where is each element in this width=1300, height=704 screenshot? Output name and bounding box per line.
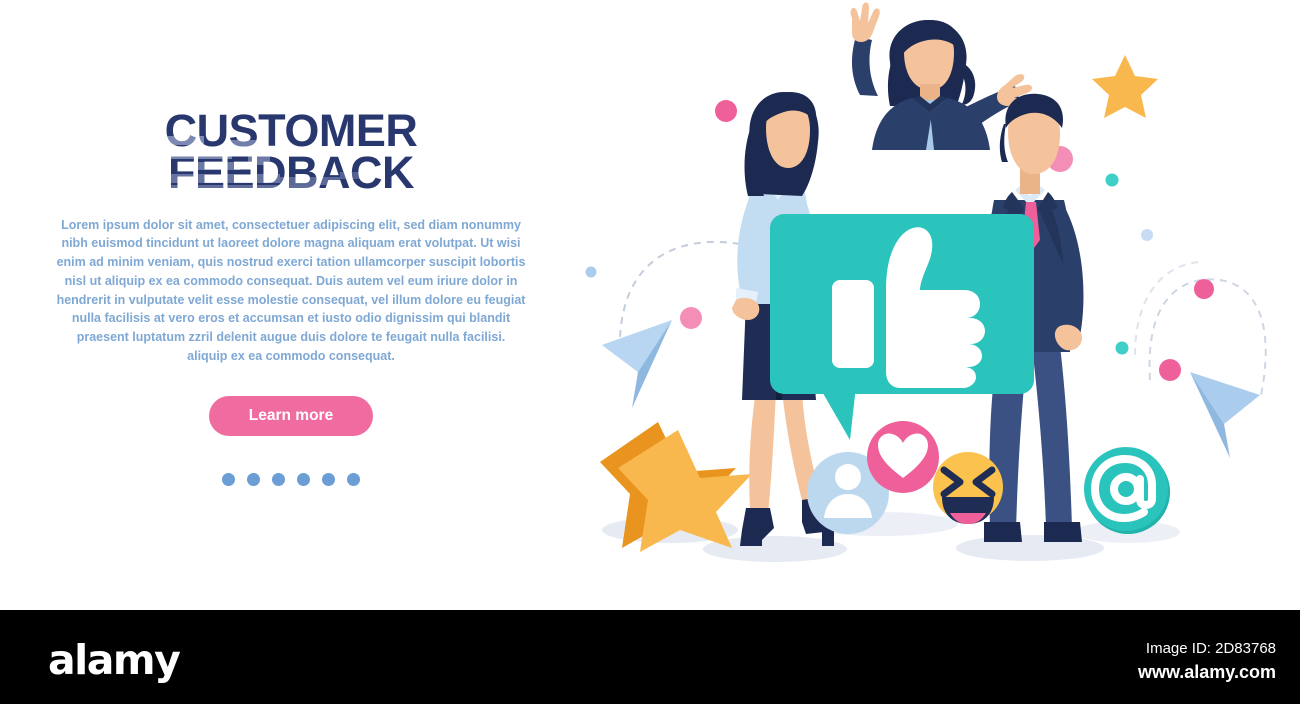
ground-shadow-man [956,535,1104,561]
cta-container: Learn more [56,396,526,436]
confetti-dot-teal-3 [1116,342,1129,355]
carousel-dot-3[interactable] [272,473,285,486]
carousel-dot-4[interactable] [297,473,310,486]
reaction-icon-heart [867,421,939,493]
dashed-trail-right-2 [1135,262,1200,355]
confetti-dot-pink-3 [1159,359,1181,381]
carousel-dot-6[interactable] [347,473,360,486]
confetti-dot-blue-2 [1141,229,1153,241]
footer-meta: Image ID: 2D83768 www.alamy.com [1138,638,1276,685]
hero-body-copy: Lorem ipsum dolor sit amet, consectetuer… [56,216,526,366]
reaction-icon-at-sign [1084,447,1170,534]
paper-plane-left [602,320,672,408]
image-id-label: Image ID: 2D83768 [1138,638,1276,660]
page-title-line-2: FEEDBACK [56,152,526,194]
paper-plane-right [1190,372,1260,458]
customer-feedback-illustration [560,0,1300,610]
hero-text-column: CUSTOMER FEEDBACK Lorem ipsum dolor sit … [56,110,526,486]
hero-body-paragraph: Lorem ipsum dolor sit amet, consectetuer… [56,216,526,347]
confetti-dot-blue-1 [586,267,597,278]
website-label: www.alamy.com [1138,660,1276,685]
page-title: CUSTOMER FEEDBACK [56,110,526,194]
confetti-dot-pink-2 [1194,279,1214,299]
carousel-dot-2[interactable] [247,473,260,486]
confetti-dot-teal-2 [1106,174,1119,187]
alamy-logo: alamy [48,636,179,684]
hero-body-tail: aliquip ex ea commodo consequat. [56,347,526,366]
star-small-right [1092,55,1158,118]
stock-photo-canvas: CUSTOMER FEEDBACK Lorem ipsum dolor sit … [0,0,1300,704]
learn-more-button[interactable]: Learn more [209,396,373,436]
carousel-dots[interactable] [56,473,526,486]
carousel-dot-1[interactable] [222,473,235,486]
watermark-footer-bar: alamy Image ID: 2D83768 www.alamy.com [0,610,1300,704]
carousel-dot-5[interactable] [322,473,335,486]
confetti-sphere-pink-left [680,307,702,329]
confetti-dot-pink-1 [715,100,737,122]
